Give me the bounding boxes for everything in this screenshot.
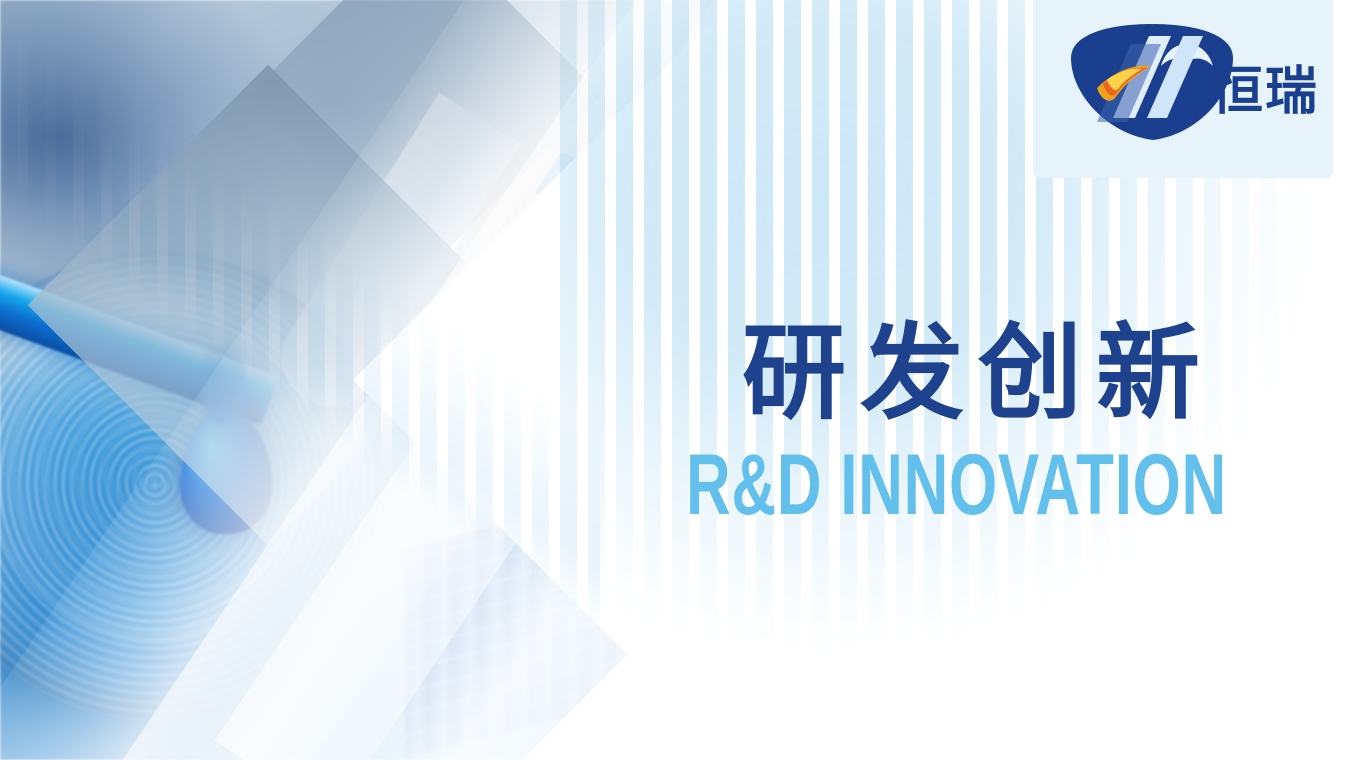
headline-chinese: 研发创新 [742, 322, 1342, 426]
headline-block: 研发创新 R&D INNOVATION [742, 322, 1342, 528]
checkerboard-pattern-left [0, 0, 600, 700]
headline-english: R&D INNOVATION [686, 442, 1158, 528]
logo-plate: 恒瑞 [1033, 0, 1333, 178]
rd-innovation-banner: 研发创新 R&D INNOVATION 恒瑞 [0, 0, 1350, 760]
logo-wordmark: 恒瑞 [1211, 64, 1319, 120]
